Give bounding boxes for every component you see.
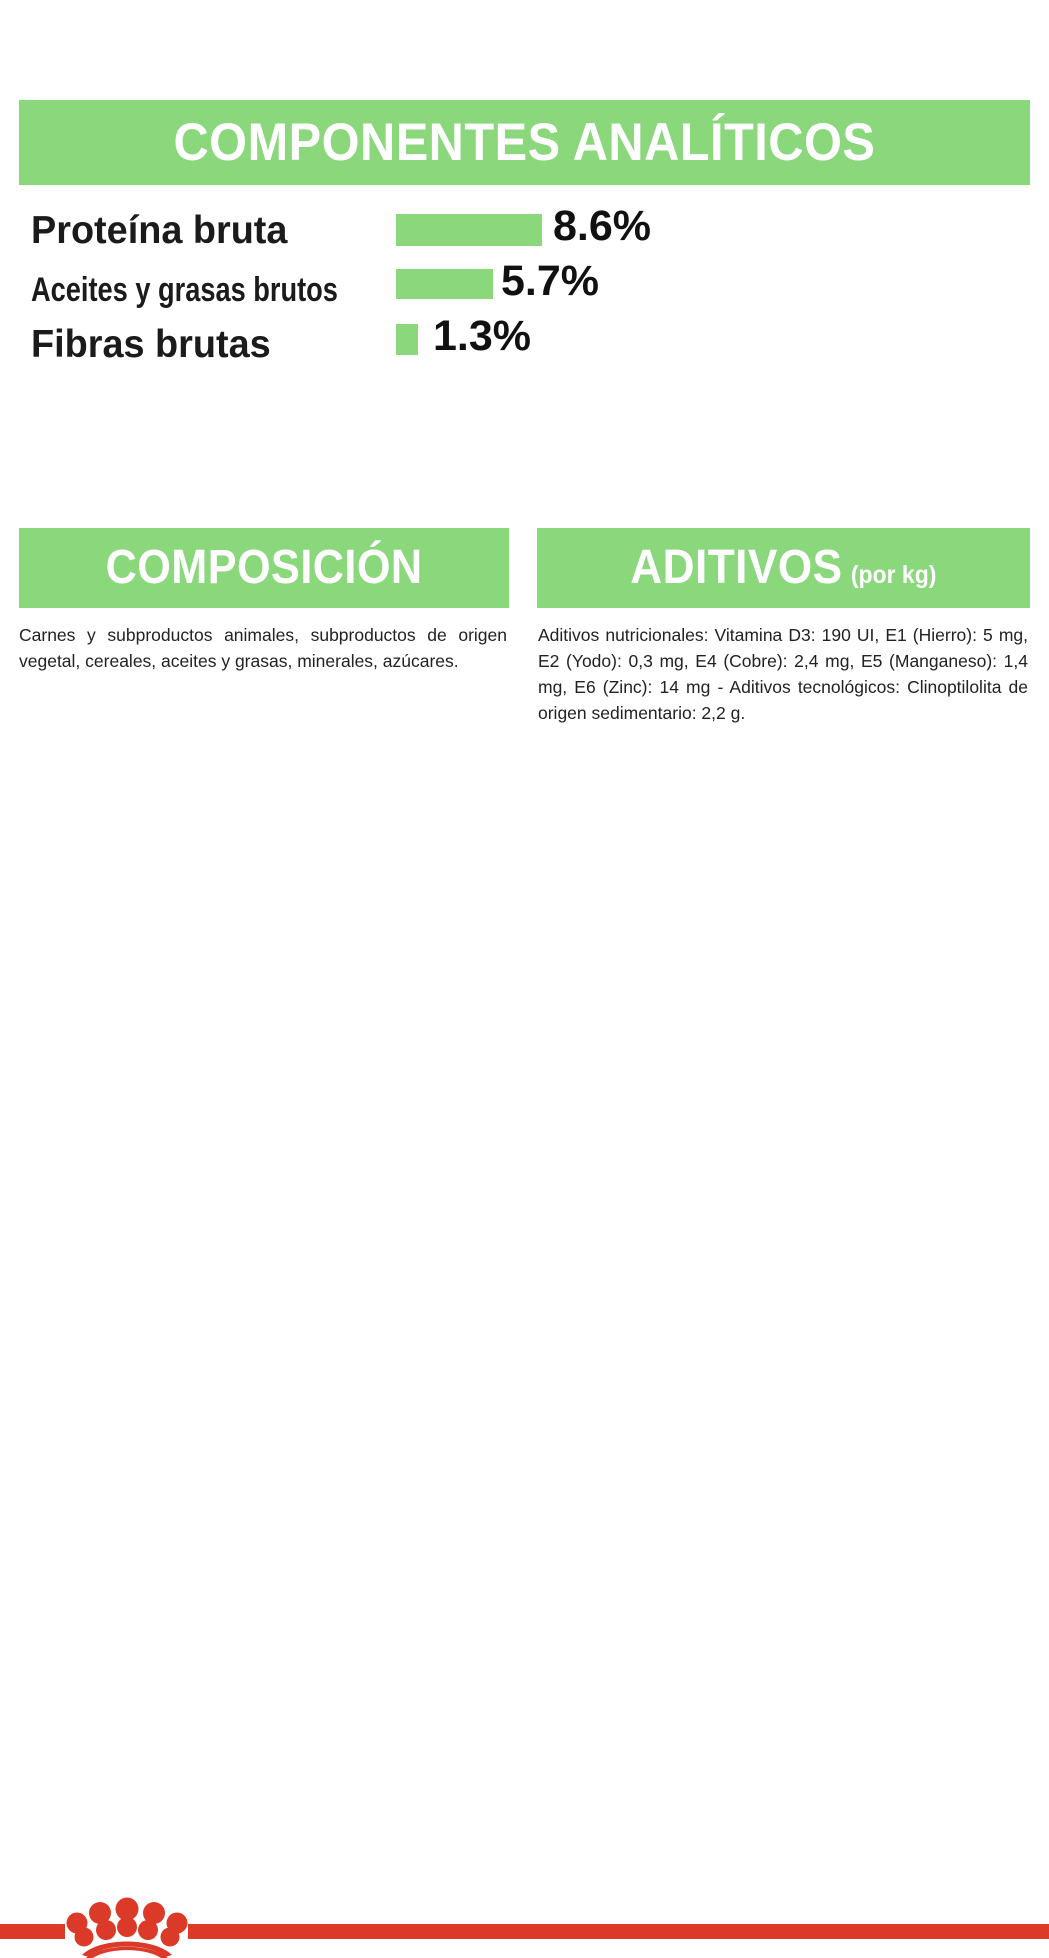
composition-body-text: Carnes y subproductos animales, subprodu…: [19, 622, 507, 674]
additives-title-group: ADITIVOS (por kg): [630, 544, 936, 592]
analytic-row: Proteína bruta 8.6%: [0, 198, 1049, 255]
nutrient-label: Fibras brutas: [31, 325, 271, 364]
additives-body-text: Aditivos nutricionales: Vitamina D3: 190…: [538, 622, 1028, 726]
nutrient-value: 1.3%: [433, 315, 531, 358]
nutrition-panel: COMPONENTES ANALÍTICOS Proteína bruta 8.…: [0, 0, 1049, 1049]
nutrient-label: Aceites y grasas brutos: [31, 273, 338, 307]
nutrient-value: 8.6%: [553, 205, 651, 248]
analytic-components-chart: Proteína bruta 8.6% Aceites y grasas bru…: [0, 198, 1049, 369]
analytic-components-banner: COMPONENTES ANALÍTICOS: [19, 100, 1030, 185]
nutrient-bar: [396, 324, 418, 355]
additives-title: ADITIVOS: [630, 544, 842, 592]
composition-title: COMPOSICIÓN: [106, 544, 423, 592]
analytic-row: Fibras brutas 1.3%: [0, 312, 1049, 369]
additives-banner: ADITIVOS (por kg): [537, 528, 1030, 608]
nutrient-bar: [396, 269, 493, 299]
composition-banner: COMPOSICIÓN: [19, 528, 509, 608]
royal-canin-crown-icon: [66, 1896, 188, 1958]
nutrient-value: 5.7%: [501, 260, 599, 303]
footer-rule-right: [188, 1924, 1049, 1939]
nutrient-label: Proteína bruta: [31, 211, 287, 250]
nutrient-bar: [396, 214, 542, 246]
additives-subtitle: (por kg): [851, 563, 937, 588]
footer: [0, 940, 1049, 1049]
footer-rule-left: [0, 1924, 65, 1939]
analytic-components-title: COMPONENTES ANALÍTICOS: [174, 116, 876, 169]
analytic-row: Aceites y grasas brutos 5.7%: [0, 255, 1049, 312]
